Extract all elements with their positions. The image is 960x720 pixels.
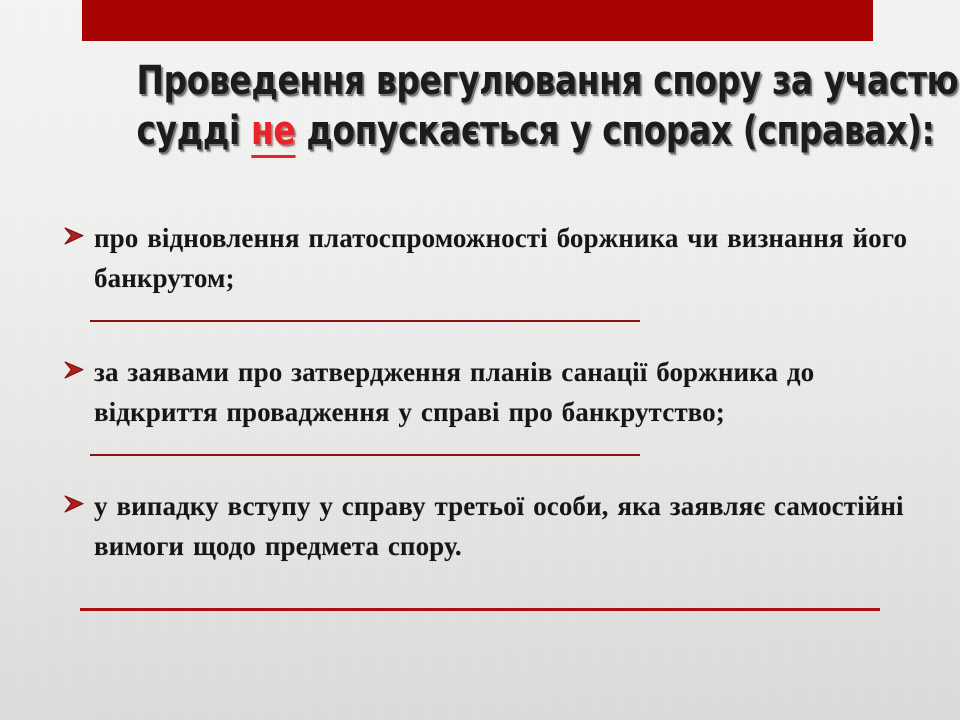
list-item-text: у випадку вступу у справу третьої особи,…: [94, 486, 920, 566]
list-item: у випадку вступу у справу третьої особи,…: [0, 486, 960, 611]
title-line-2-after: допускається у спорах (справах):: [295, 108, 934, 154]
slide-body: про відновлення платоспроможності боржни…: [0, 218, 960, 611]
title-line-1: Проведення врегулювання спору за участю: [137, 56, 834, 106]
presentation-slide: Проведення врегулювання спору за участю …: [0, 0, 960, 720]
title-line-2-before: судді: [137, 108, 252, 154]
arrow-bullet-icon: [64, 495, 94, 513]
slide-title: Проведення врегулювання спору за участю …: [60, 56, 910, 156]
title-line-2: судді не допускається у спорах (справах)…: [137, 106, 834, 156]
separator-rule-1: [90, 320, 640, 322]
arrow-bullet-icon: [64, 361, 94, 379]
header-accent-bar: [82, 0, 873, 41]
arrow-bullet-icon: [64, 227, 94, 245]
list-item-text: за заявами про затвердження планів санац…: [94, 352, 920, 432]
separator-rule-2: [90, 454, 640, 456]
list-item-text: про відновлення платоспроможності боржни…: [94, 218, 920, 298]
list-item: про відновлення платоспроможності боржни…: [0, 218, 960, 322]
separator-rule-3: [80, 608, 880, 611]
title-negation-word: не: [251, 108, 295, 158]
list-item: за заявами про затвердження планів санац…: [0, 352, 960, 456]
